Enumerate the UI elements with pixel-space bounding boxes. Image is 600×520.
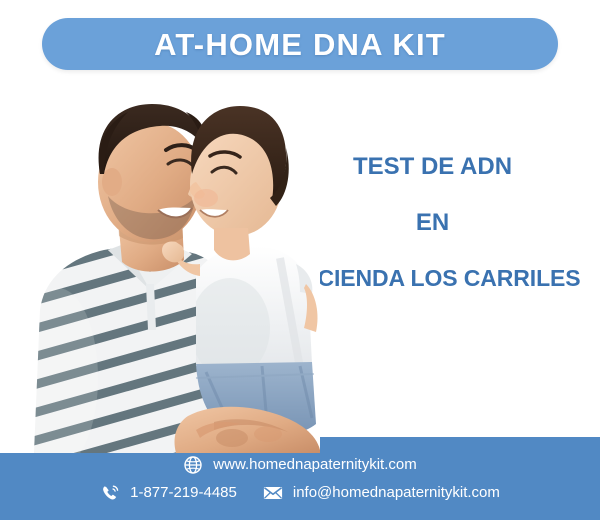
header-banner-pill: AT-HOME DNA KIT (42, 18, 558, 70)
phone-icon (100, 483, 120, 503)
phone-item[interactable]: 1-877-219-4485 (100, 483, 237, 503)
page-title: AT-HOME DNA KIT (154, 29, 446, 60)
phone-label: 1-877-219-4485 (130, 485, 237, 500)
poster-canvas: AT-HOME DNA KIT (0, 0, 600, 520)
headline-line-3: HACIENDA LOS CARRILES (265, 267, 600, 290)
footer-row-contact: 1-877-219-4485 info@homednapaternitykit.… (100, 483, 500, 503)
email-label: info@homednapaternitykit.com (293, 485, 500, 500)
globe-icon (183, 455, 203, 475)
email-item[interactable]: info@homednapaternitykit.com (263, 483, 500, 503)
envelope-icon (263, 483, 283, 503)
website-label: www.homednapaternitykit.com (213, 457, 416, 472)
headline-block: TEST DE ADN EN HACIENDA LOS CARRILES (265, 155, 600, 290)
footer-row-website: www.homednapaternitykit.com (183, 455, 416, 475)
footer-contact-block: www.homednapaternitykit.com 1-877-219-44… (0, 437, 600, 520)
headline-line-1: TEST DE ADN (265, 155, 600, 179)
website-item[interactable]: www.homednapaternitykit.com (183, 455, 416, 475)
headline-line-2: EN (265, 211, 600, 235)
